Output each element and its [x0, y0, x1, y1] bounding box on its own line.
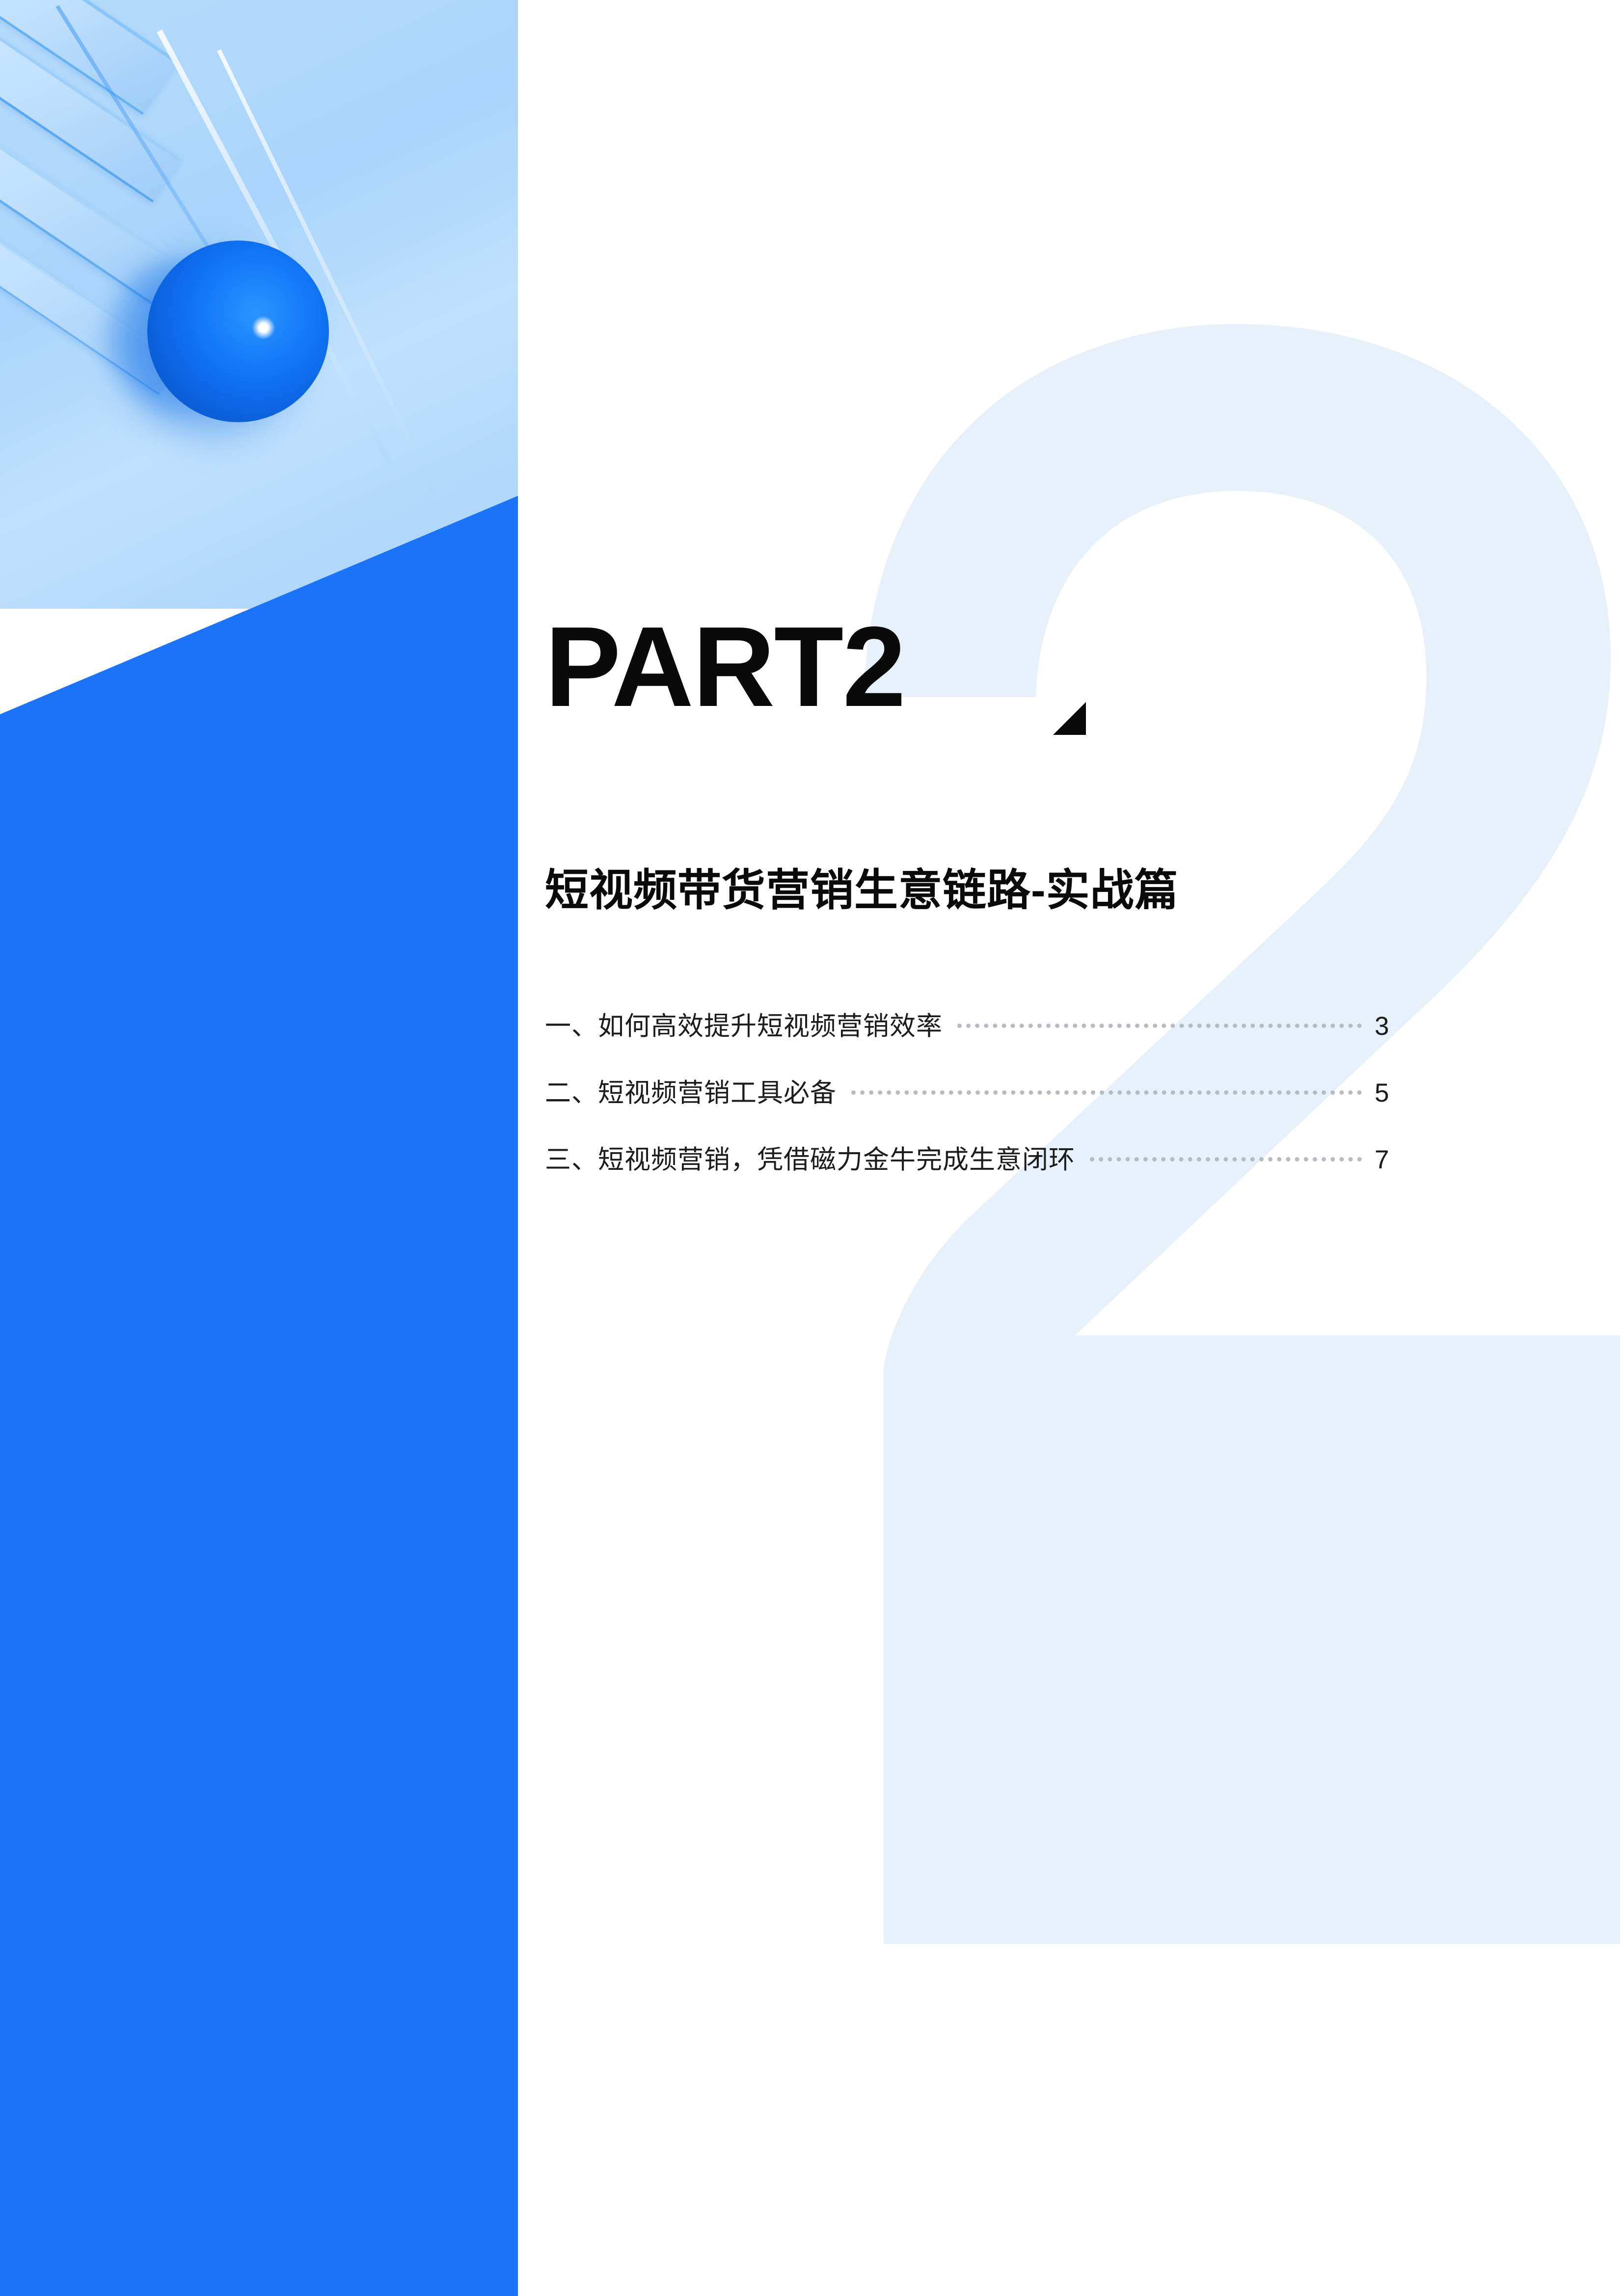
table-of-contents: 一、如何高效提升短视频营销效率 3 二、短视频营销工具必备 5 三、短视频营销，… — [545, 1005, 1409, 1206]
left-decorative-panel — [0, 0, 518, 2296]
toc-entry-page: 5 — [1375, 1078, 1409, 1108]
part-title: PART2 — [545, 610, 905, 724]
section-subtitle: 短视频带货营销生意链路-实战篇 — [545, 865, 1179, 915]
toc-entry[interactable]: 二、短视频营销工具必备 5 — [545, 1072, 1409, 1139]
blue-sphere-icon — [147, 241, 329, 422]
toc-entry[interactable]: 一、如何高效提升短视频营销效率 3 — [545, 1005, 1409, 1072]
abstract-3d-render-image — [0, 0, 518, 609]
cover-content: PART2 短视频带货营销生意链路-实战篇 一、如何高效提升短视频营销效率 3 … — [545, 0, 1527, 2296]
toc-leader-dots — [957, 1023, 1362, 1028]
cover-page: PART2 短视频带货营销生意链路-实战篇 一、如何高效提升短视频营销效率 3 … — [0, 0, 1623, 2296]
toc-entry-title: 二、短视频营销工具必备 — [545, 1072, 837, 1109]
toc-entry-title: 一、如何高效提升短视频营销效率 — [545, 1005, 943, 1043]
toc-entry-page: 3 — [1375, 1011, 1409, 1041]
toc-entry-page: 7 — [1375, 1145, 1409, 1175]
triangle-accent-icon — [1053, 702, 1086, 735]
toc-entry[interactable]: 三、短视频营销，凭借磁力金牛完成生意闭环 7 — [545, 1139, 1409, 1206]
toc-leader-dots — [1090, 1157, 1362, 1162]
toc-leader-dots — [851, 1090, 1362, 1095]
toc-entry-title: 三、短视频营销，凭借磁力金牛完成生意闭环 — [545, 1139, 1075, 1176]
